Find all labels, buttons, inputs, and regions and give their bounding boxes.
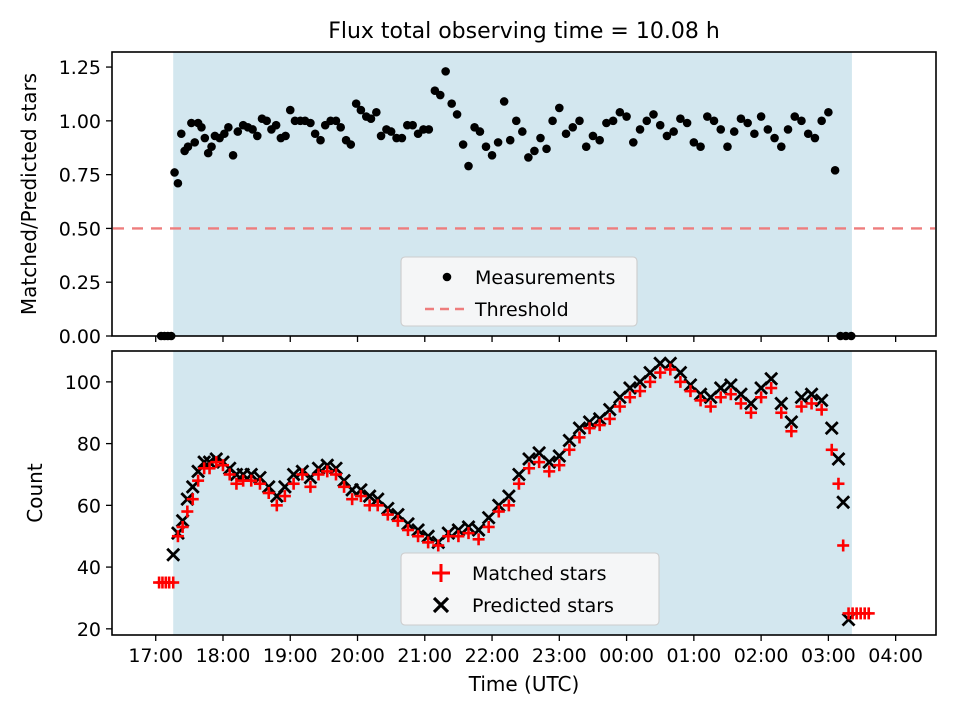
measurement-point [764,125,773,134]
y-tick-label: 20 [77,619,101,641]
measurement-point [346,140,355,149]
measurement-point [542,145,551,154]
measurement-point [286,106,295,115]
measurement-point [177,129,186,138]
y-tick-label: 0.25 [59,272,101,294]
y-tick-label: 60 [77,495,101,517]
count-panel-ylabel: Count [23,463,47,523]
measurement-point [174,179,183,188]
legend-label-predicted: Predicted stars [472,595,614,617]
measurement-point [190,138,199,147]
measurement-point [723,142,732,151]
measurement-point [229,151,238,160]
y-tick-label: 1.00 [59,111,101,133]
measurement-point [636,125,645,134]
measurement-point [548,117,557,126]
measurement-point [562,129,571,138]
ratio-panel-ylabel: Matched/Predicted stars [17,73,41,315]
measurement-point [459,140,468,149]
measurement-point [372,108,381,117]
measurement-point [398,134,407,143]
x-tick-label: 23:00 [532,645,587,667]
y-tick-label: 0.00 [59,326,101,348]
ratio-panel: 0.000.250.500.751.001.25 Matched/Predict… [17,52,936,348]
ratio-panel-legend[interactable]: Measurements Threshold [401,257,637,326]
legend-label-measurements: Measurements [475,267,615,289]
measurement-point [518,127,527,136]
measurement-point [642,117,651,126]
measurement-point [512,117,521,126]
measurement-point [316,136,325,145]
measurement-point [436,91,445,100]
x-tick-label: 20:00 [330,645,385,667]
measurement-point [262,117,271,126]
x-tick-label: 19:00 [263,645,318,667]
measurement-point [575,117,584,126]
measurement-point [716,125,725,134]
x-tick-label: 00:00 [599,645,654,667]
measurement-point [831,166,840,175]
y-tick-label: 1.25 [59,57,101,79]
measurement-point [453,110,462,119]
measurement-point [656,121,665,130]
measurement-point [464,162,473,171]
x-tick-label: 22:00 [465,645,520,667]
measurement-point [336,123,345,132]
measurement-point [281,132,290,141]
plot-svg: Flux total observing time = 10.08 h 0.00… [0,0,960,720]
measurement-point [649,110,658,119]
measurement-point [710,117,719,126]
page-title: Flux total observing time = 10.08 h [328,19,720,44]
measurement-point [170,168,179,177]
measurement-point [441,67,450,76]
measurement-point [447,99,456,108]
measurement-point [524,153,533,162]
y-tick-label: 40 [77,557,101,579]
measurement-point [207,142,216,151]
count-panel-legend[interactable]: Matched stars Predicted stars [401,553,659,625]
measurement-point [488,151,497,160]
measurement-point [482,142,491,151]
measurement-point [425,125,434,134]
measurement-point [253,132,262,141]
measurement-point [530,147,539,156]
measurement-point [629,138,638,147]
measurement-point [500,97,509,106]
measurement-point [201,134,210,143]
measurement-point [536,134,545,143]
measurement-point [408,121,417,130]
y-tick-label: 100 [65,372,101,394]
xaxis-tick-labels: 17:0018:0019:0020:0021:0022:0023:0000:00… [128,645,923,667]
measurement-point [797,117,806,126]
y-tick-label: 80 [77,434,101,456]
x-tick-label: 02:00 [734,645,789,667]
measurement-point [224,123,233,132]
measurement-point [750,129,759,138]
measurement-point [609,117,618,126]
legend-label-matched: Matched stars [472,563,606,585]
measurement-point [568,123,577,132]
x-tick-label: 03:00 [801,645,856,667]
measurement-point [582,142,591,151]
measurement-point [777,142,786,151]
measurement-point [272,121,281,130]
measurement-point [306,119,315,128]
measurement-point [476,127,485,136]
y-tick-label: 0.50 [59,218,101,240]
x-tick-label: 21:00 [397,645,452,667]
measurement-point [757,112,766,121]
measurement-point [197,123,206,132]
measurement-point [730,127,739,136]
legend-label-threshold: Threshold [474,299,569,321]
x-tick-label: 04:00 [868,645,923,667]
measurement-point [494,138,503,147]
measurement-point [817,117,826,126]
y-tick-label: 0.75 [59,165,101,187]
measurement-point [555,104,564,113]
dot-marker-icon [443,273,452,282]
measurement-point [683,119,692,128]
x-tick-label: 18:00 [196,645,251,667]
figure-canvas: Flux total observing time = 10.08 h 0.00… [0,0,960,720]
measurement-point [770,134,779,143]
xaxis-label: Time (UTC) [468,672,580,696]
measurement-point [622,112,631,121]
measurement-point [811,134,820,143]
measurement-point [595,136,604,145]
measurement-point [784,125,793,134]
measurement-point [669,127,678,136]
x-tick-label: 17:00 [128,645,183,667]
measurement-point [696,142,705,151]
measurement-point [824,108,833,117]
x-tick-label: 01:00 [666,645,721,667]
measurement-point [743,119,752,128]
measurement-point [506,136,515,145]
